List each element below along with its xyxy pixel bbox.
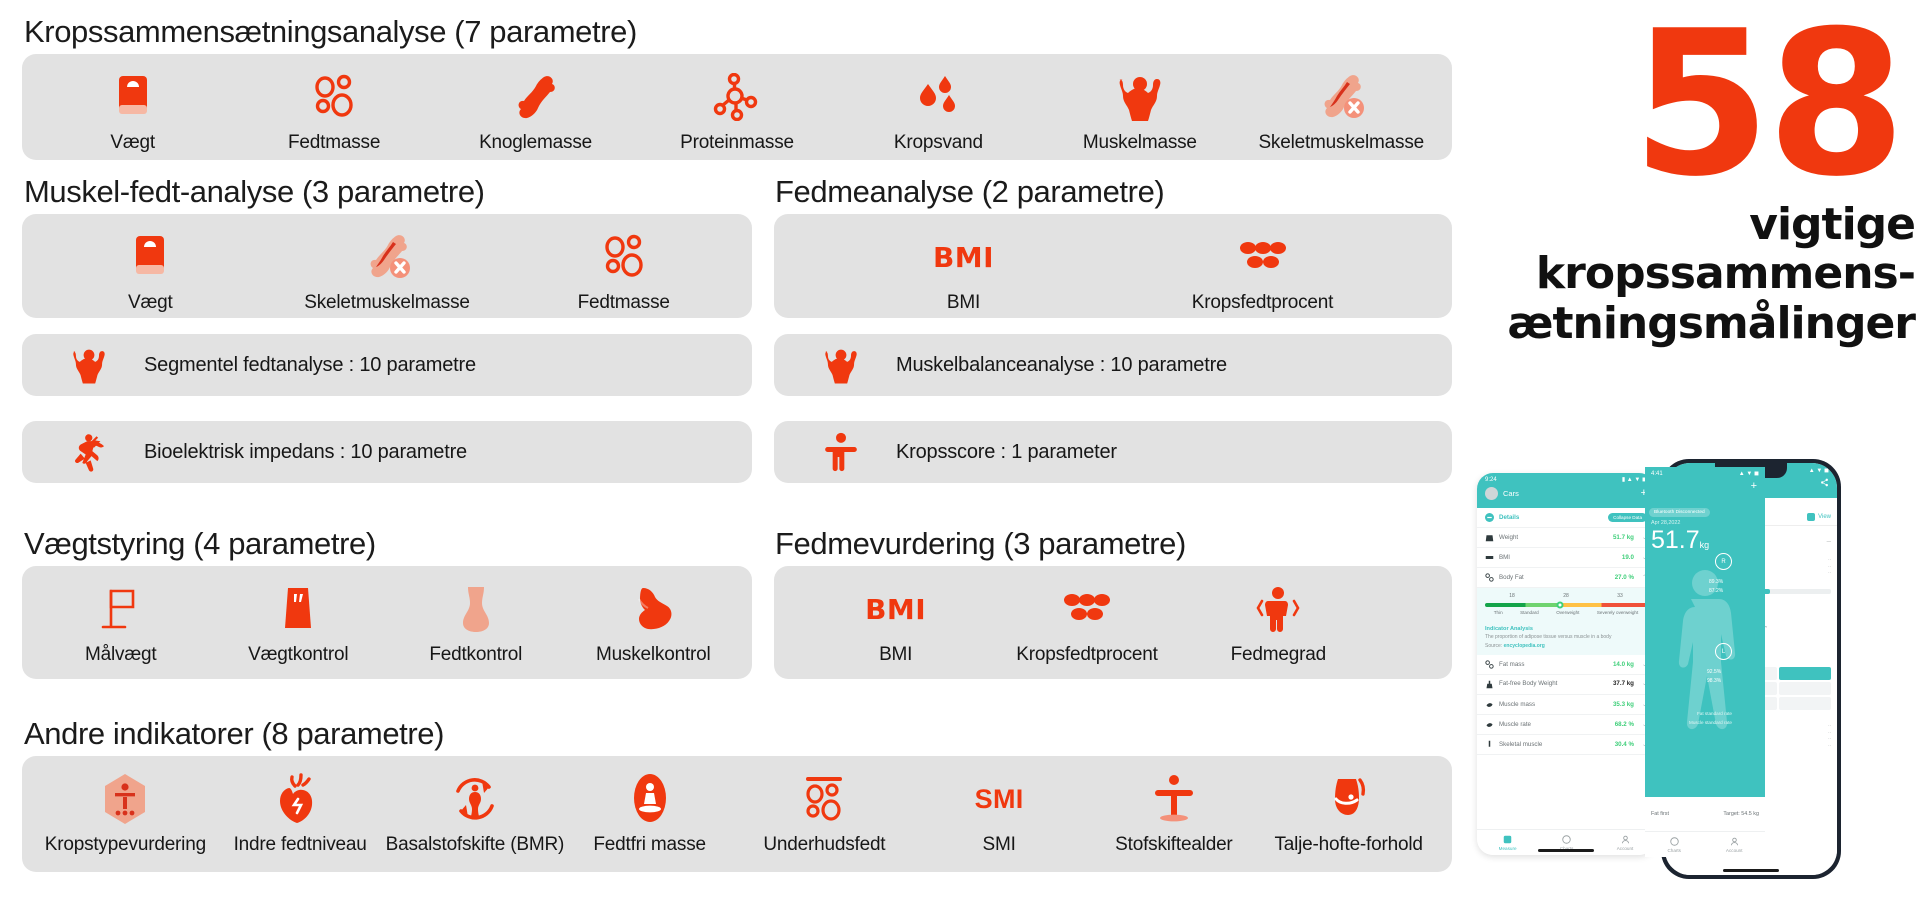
row-label: Fat mass [1499,661,1524,668]
section-title-other-indicators: Andre indikatorer (8 parametre) [24,716,444,752]
list-item[interactable]: Fat mass 14.0 kg ⌄ [1477,655,1655,675]
note-muscle-standard: Muscle standard rate [1689,720,1732,725]
user-name: Cars [1503,489,1519,498]
standing-person-icon [814,432,868,472]
grid-cell [1779,682,1831,695]
item-label: Skeletmuskelmasse [304,292,470,314]
bar-kropsscore[interactable]: Kropsscore : 1 parameter [774,421,1452,483]
item-label: Muskelmasse [1083,132,1197,154]
tab-label: Charts [1667,848,1681,853]
pct-value: 98.3% [1707,678,1721,684]
item-fedtkontrol[interactable]: Fedtkontrol [387,580,565,666]
panel-body-composition: Vægt Fedtmasse Knoglemasse [22,54,1452,160]
row-value: 14.0 kg [1613,661,1634,668]
infographic-page: Kropssammensætningsanalyse (7 parametre)… [0,0,1920,900]
row-value: 35.3 kg [1613,701,1634,708]
promo-number: 58 [1632,20,1902,190]
promo-line-1: vigtige [1460,200,1915,249]
phone-screen-measure: 9:24 ▮ ▲ ▼ ◼ Cars + Details Collapse Dat… [1477,473,1655,855]
row-value: 30.4 % [1615,741,1634,748]
item-skeletmuskelmasse[interactable]: Skeletmuskelmasse [1241,68,1442,154]
item-vaegt-2[interactable]: Vægt [32,228,269,314]
item-smi[interactable]: SMI SMI [912,770,1087,856]
scale-icon [129,228,171,286]
item-label: Skeletmuskelmasse [1258,132,1424,154]
list-item[interactable]: BMI 19.0 ⌄ [1477,548,1655,568]
section-title-obesity-assessment: Fedmevurdering (3 parametre) [775,526,1186,562]
item-label: BMI [947,292,980,314]
status-time: 9:24 [1485,477,1497,483]
fat-free-weight-icon [1485,680,1494,689]
weight-readout: 51.7kg [1645,526,1765,553]
bar-label: Kropsscore : 1 parameter [896,441,1117,464]
item-label: Proteinmasse [680,132,794,154]
flexing-person-icon [814,346,868,384]
status-bar: 9:24 ▮ ▲ ▼ ◼ [1477,473,1655,483]
item-label: Kropsvand [894,132,983,154]
smi-glyph: SMI [975,784,1024,815]
item-label: Fedtmasse [288,132,380,154]
item-talje-hofte-forhold[interactable]: Talje-hofte-forhold [1261,770,1436,856]
tab-label: Measure [1499,846,1517,851]
item-fedtmasse[interactable]: Fedtmasse [233,68,434,154]
item-muskelkontrol[interactable]: Muskelkontrol [565,580,743,666]
item-skeletmuskelmasse-2[interactable]: Skeletmuskelmasse [269,228,506,314]
row-label: Weight [1499,534,1518,541]
item-fedtmasse-2[interactable]: Fedtmasse [505,228,742,314]
skeletal-muscle-icon [1485,740,1494,749]
item-knoglemasse[interactable]: Knoglemasse [435,68,636,154]
panel-weight-management: Målvægt Vægtkontrol Fedtkontrol [22,566,752,679]
item-label: Knoglemasse [479,132,592,154]
oval-person-icon [629,770,671,828]
brand-row: View [1807,513,1831,521]
gauge-ticks: 18 28 33 [1485,593,1647,599]
gauge-bar [1485,603,1647,607]
item-underhudsfedt[interactable]: Underhudsfedt [737,770,912,856]
source-prefix: Source: [1485,643,1504,649]
phone-screen-weight: 4:41 ▲ ▼ ◼ + Bluetooth Disconnected Apr … [1645,467,1765,857]
row-label: Skeletal muscle [1499,741,1542,748]
subcutaneous-fat-icon [800,770,848,828]
item-label: Talje-hofte-forhold [1274,834,1422,856]
gauge-caption: Thin [1494,610,1503,615]
list-item[interactable]: Body Fat 27.0 % ⌃ [1477,568,1655,588]
goal-left: Fat first [1651,811,1669,817]
item-label: Fedmegrad [1231,644,1326,666]
flexing-person-icon [62,346,116,384]
row-value: 19.0 [1622,554,1634,561]
item-label: Fedtmasse [578,292,670,314]
row-value: 68.2 % [1615,721,1634,728]
heart-organ-icon [276,770,324,828]
item-label: BMI [879,644,912,666]
item-proteinmasse[interactable]: Proteinmasse [636,68,837,154]
status-icons: ▲ ▼ ◼ [1809,467,1829,474]
indicator-analysis: Indicator Analysis The proportion of adi… [1477,622,1655,655]
row-value: 51.7 kg [1613,534,1634,541]
view-label: View [1818,514,1831,520]
gauge-caption: Severely overweight [1597,610,1638,615]
item-label: Muskelkontrol [596,644,711,666]
brand-icon [1807,513,1815,521]
water-drops-icon [914,68,962,126]
bluetooth-status-chip: Bluetooth Disconnected [1649,508,1710,517]
row-label: Fat-free Body Weight [1499,680,1557,688]
muscle-rate-ring: L [1715,643,1732,660]
item-bmi-2[interactable]: BMI BMI [800,580,991,666]
fat-cells-icon [601,228,647,286]
goal-right: Target: 54.5 kg [1723,811,1759,817]
item-label: Indre fedtniveau [234,834,367,856]
status-bar: 4:41 ▲ ▼ ◼ [1645,467,1765,477]
home-indicator [1538,849,1594,852]
status-time: 4:41 [1651,471,1663,477]
item-bmi[interactable]: BMI BMI [814,228,1113,314]
tab-label: Account [1726,848,1743,853]
row-label: Muscle mass [1499,701,1535,708]
fat-dots-icon [1237,228,1289,286]
item-label: Basalstofskifte (BMR) [386,834,564,856]
note-fat-standard: Fat standard rate [1697,711,1732,716]
list-item[interactable]: Muscle mass 35.3 kg ⌄ [1477,695,1655,715]
bone-muscle-icon [1314,68,1368,126]
promo-headline: vigtige kropssammens- ætningsmålinger [1460,200,1915,348]
app-header: + [1645,477,1765,500]
bar-segmentel-fedtanalyse[interactable]: Segmentel fedtanalyse : 10 parametre [22,334,752,396]
row-value: 37.7 kg [1613,680,1634,688]
impedance-person-icon [62,432,116,472]
bar-label: Segmentel fedtanalyse : 10 parametre [144,354,476,377]
item-label: Kropsfedtprocent [1192,292,1334,314]
fat-cells-icon [311,68,357,126]
parameters-overview: Kropssammensætningsanalyse (7 parametre)… [22,6,1452,894]
app-header: Cars + [1477,483,1655,508]
bmi-icon [1485,553,1494,562]
pct-value: 89.3% [1709,579,1723,585]
app-screenshots: 9:24 ▮ ▲ ▼ ◼ Cars + Details Collapse Dat… [1465,455,1915,895]
bone-muscle-icon [360,228,414,286]
bmi-glyph: BMI [933,241,994,274]
status-icons: ▮ ▲ ▼ ◼ [1622,476,1647,483]
item-kropsfedtprocent[interactable]: Kropsfedtprocent [1113,228,1412,314]
indicator-title: Indicator Analysis [1485,626,1647,632]
weight-icon [1485,533,1494,542]
item-label: Fedtfri masse [593,834,706,856]
flag-icon [99,580,143,638]
promo-line-2: kropssammens- [1460,249,1915,298]
hexagon-person-icon [99,770,151,828]
pct-value: 92.5% [1707,669,1721,675]
item-label: Stofskiftealder [1115,834,1232,856]
item-stofskiftealder[interactable]: Stofskiftealder [1087,770,1262,856]
pct-value: 87.2% [1709,588,1723,594]
molecule-icon [713,68,761,126]
item-indre-fedtniveau[interactable]: Indre fedtniveau [213,770,388,856]
bar-label: Muskelbalanceanalyse : 10 parametre [896,354,1227,377]
metabolism-cycle-icon [449,770,501,828]
add-icon[interactable]: + [1751,481,1757,492]
bar-label: Bioelektrisk impedans : 10 parametre [144,441,467,464]
bmi-text-icon: BMI [865,580,926,638]
item-label: SMI [983,834,1016,856]
panel-fat-analysis: BMI BMI Kropsfedtprocent [774,214,1452,318]
item-vaegtkontrol[interactable]: Vægtkontrol [210,580,388,666]
promo-line-3: ætningsmålinger [1460,299,1915,348]
list-item[interactable]: Weight 51.7 kg ⌄ [1477,528,1655,548]
bmi-glyph: BMI [865,593,926,626]
gauge-captions: Thin Standard Overweight Severely overwe… [1485,610,1647,615]
section-title-body-composition: Kropssammensætningsanalyse (7 parametre) [24,14,637,50]
biceps-icon [631,580,675,638]
body-silhouette-icon [1653,563,1757,808]
list-item[interactable]: Skeletal muscle 30.4 % ⌄ [1477,735,1655,755]
list-item[interactable]: Fat-free Body Weight 37.7 kg ⌄ [1477,675,1655,695]
weight-value: 51.7 [1651,526,1700,554]
item-label: Vægtkontrol [248,644,348,666]
grid-cell-highlight [1779,667,1831,680]
torso-icon [455,580,497,638]
details-label: Details [1499,514,1519,521]
tab-account[interactable]: Account [1617,835,1634,851]
gauge-tick: 18 [1509,593,1515,599]
scale-upright-icon [279,580,317,638]
share-icon[interactable] [1820,478,1829,490]
waist-hip-icon [1325,770,1373,828]
item-basalstofskifte[interactable]: Basalstofskifte (BMR) [388,770,563,856]
panel-muscle-fat: Vægt Skeletmuskelmasse Fedtmasse [22,214,752,318]
row-label: BMI [1499,554,1510,561]
tab-charts[interactable]: Charts [1667,837,1681,853]
tab-account[interactable]: Account [1726,837,1743,853]
list-item[interactable]: Muscle rate 68.2 % ⌄ [1477,715,1655,735]
section-title-weight-management: Vægtstyring (4 parametre) [24,526,376,562]
body-fat-icon [1485,573,1494,582]
grid-cell [1779,697,1831,710]
section-title-fat-analysis: Fedmeanalyse (2 parametre) [775,174,1164,210]
smi-text-icon: SMI [975,770,1024,828]
person-width-icon [1255,580,1301,638]
bmi-text-icon: BMI [933,228,994,286]
gauge-caption: Overweight [1556,610,1579,615]
weight-unit: kg [1700,540,1710,550]
item-label: Vægt [110,132,155,154]
collapse-data-button[interactable]: Collapse Data [1608,513,1647,522]
panel-obesity-assessment: BMI BMI Kropsfedtprocent Fedmegrad [774,566,1452,679]
details-row[interactable]: Details Collapse Data [1477,508,1655,528]
item-kropstypevurdering[interactable]: Kropstypevurdering [38,770,213,856]
row-label: Muscle rate [1499,721,1531,728]
item-label: Vægt [128,292,173,314]
gauge-knob[interactable] [1556,602,1563,609]
body-fat-gauge: 18 28 33 Thin Standard Overweight Severe… [1477,588,1655,622]
item-maalvaegt[interactable]: Målvægt [32,580,210,666]
item-kropsfedtprocent-2[interactable]: Kropsfedtprocent [991,580,1182,666]
standing-person-icon [1152,770,1196,828]
gauge-tick: 28 [1563,593,1569,599]
item-label: Fedtkontrol [429,644,522,666]
bone-icon [514,68,558,126]
item-label: Målvægt [85,644,156,666]
item-kropsvand[interactable]: Kropsvand [838,68,1039,154]
promo-panel: 58 vigtige kropssammens- ætningsmålinger… [1455,0,1920,900]
fat-rate-ring: R [1715,553,1732,570]
indicator-body: The proportion of adipose tissue versus … [1485,634,1647,642]
item-label: Underhudsfedt [763,834,885,856]
bar-bioelektrisk-impedans[interactable]: Bioelektrisk impedans : 10 parametre [22,421,752,483]
item-muskelmasse[interactable]: Muskelmasse [1039,68,1240,154]
gauge-caption: Standard [1520,610,1539,615]
muscle-mass-icon [1485,700,1494,709]
section-title-muscle-fat: Muskel-fedt-analyse (3 parametre) [24,174,485,210]
source-link[interactable]: encyclopedia.org [1504,643,1545,649]
tab-measure[interactable]: Measure [1499,835,1517,851]
tab-bar: Charts Account [1645,831,1765,857]
details-icon [1485,513,1494,522]
bar-muskelbalanceanalyse[interactable]: Muskelbalanceanalyse : 10 parametre [774,334,1452,396]
row-value: 27.0 % [1615,574,1634,581]
status-icons: ▲ ▼ ◼ [1739,470,1759,477]
muscle-rate-icon [1485,720,1494,729]
gauge-tick: 33 [1617,593,1623,599]
item-fedtfri-masse[interactable]: Fedtfri masse [562,770,737,856]
tab-label: Account [1617,846,1634,851]
scale-icon [112,68,154,126]
goal-footer: Fat first Target: 54.5 kg [1645,797,1765,831]
avatar [1485,487,1498,500]
indicator-source: Source: encyclopedia.org [1485,643,1647,649]
flexing-person-icon [1114,68,1166,126]
row-label: Body Fat [1499,574,1524,581]
fat-dots-icon [1061,580,1113,638]
panel-other-indicators: Kropstypevurdering Indre fedtniveau Basa… [22,756,1452,872]
home-indicator [1723,869,1779,872]
item-label: Kropsfedtprocent [1016,644,1158,666]
item-label: Kropstypevurdering [45,834,206,856]
fat-mass-icon [1485,660,1494,669]
item-vaegt[interactable]: Vægt [32,68,233,154]
item-fedmegrad[interactable]: Fedmegrad [1183,580,1374,666]
